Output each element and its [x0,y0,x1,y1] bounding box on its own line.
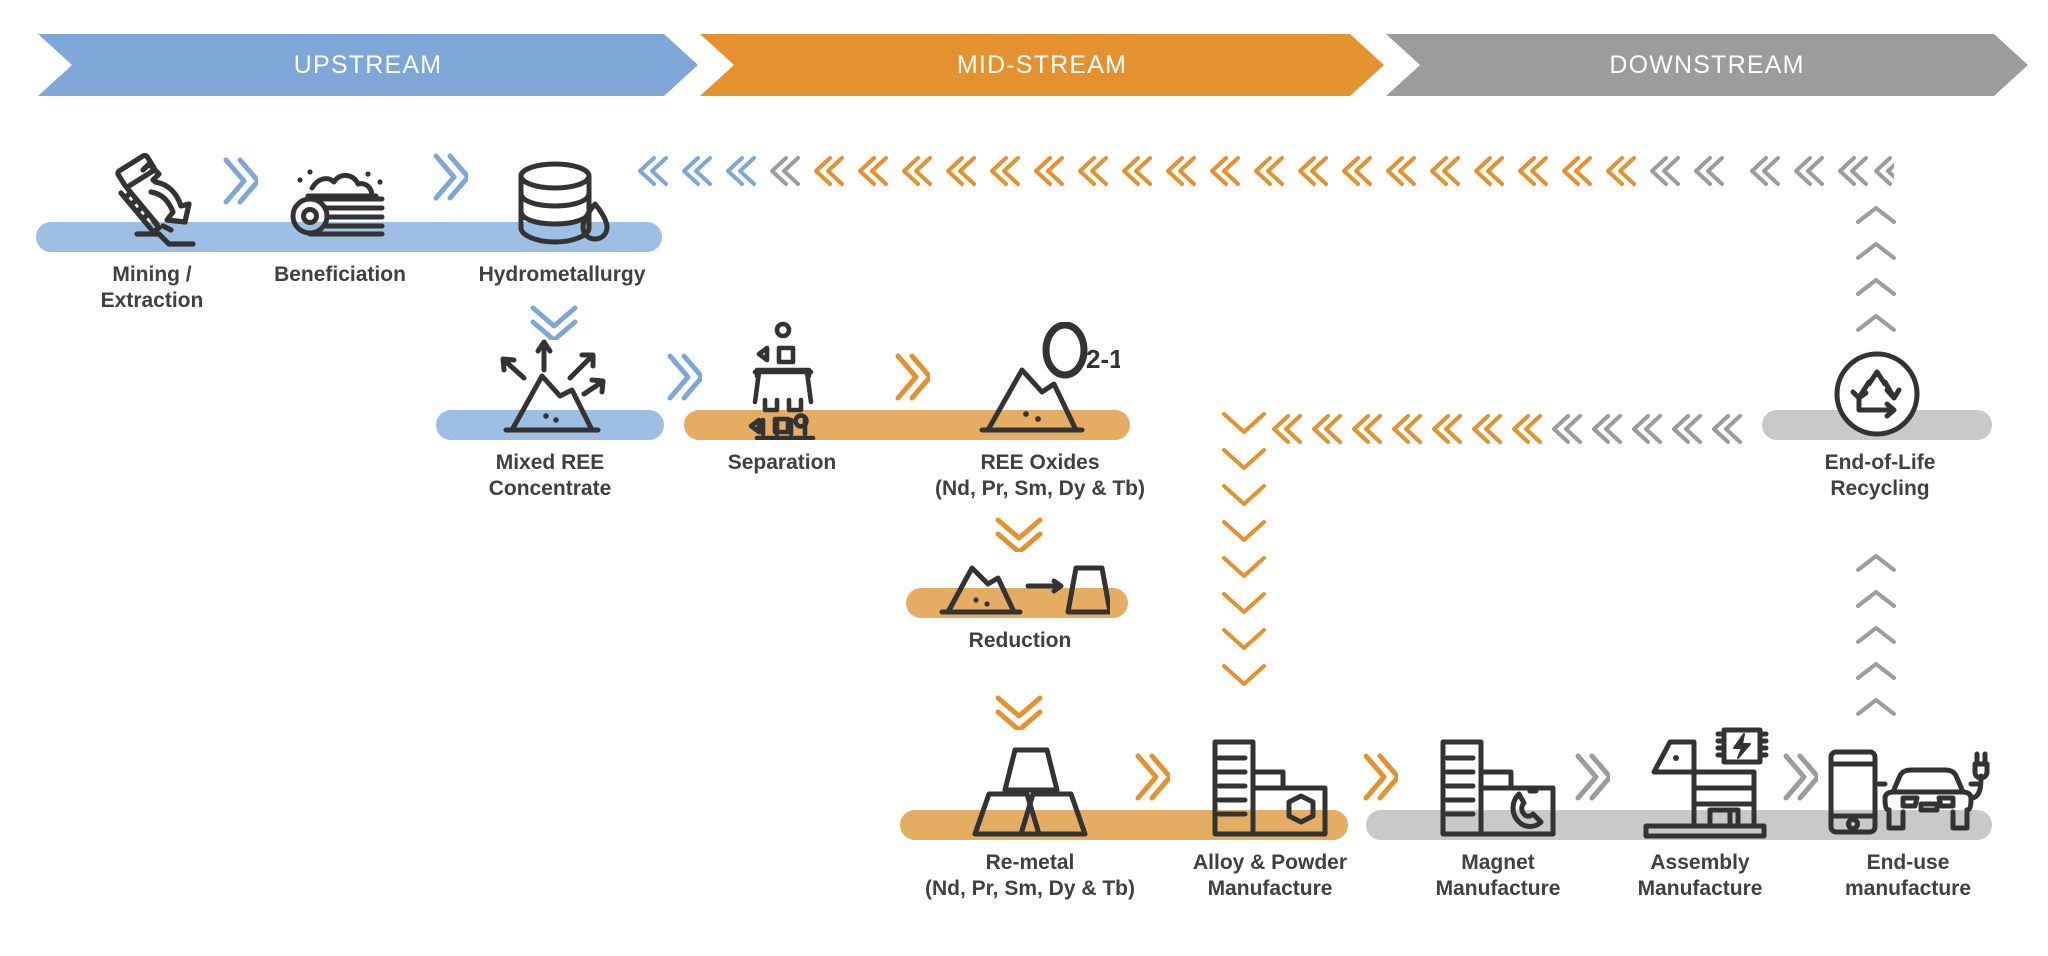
node-end-use-manufacture[interactable] [1818,736,1998,840]
node-eol-recycling-label: End-of-Life Recycling [1790,450,1970,501]
stage-banner-downstream[interactable]: DOWNSTREAM [1386,34,2028,96]
label-line-2: Manufacture [1600,876,1800,902]
chevron-down-icon-reduction-to-remetal [990,690,1048,730]
label-line-1: Re-metal [986,851,1075,874]
node-separation[interactable] [692,320,872,440]
pickaxe-rock-icon [97,148,207,252]
node-mining-extraction[interactable] [62,140,242,252]
chevron-left-trail-icon-top-return [632,150,1894,192]
label-line-2: manufacture [1808,876,2008,902]
ore-pile-oxide-icon: 2-11 [960,322,1120,440]
tank-droplet-icon [507,156,617,252]
label-line-2: (Nd, Pr, Sm, Dy & Tb) [910,876,1150,902]
factory-power-icon [1632,724,1772,840]
label-line-2: Extraction [62,288,242,314]
node-reduction-label: Reduction [930,628,1110,654]
node-beneficiation-label: Beneficiation [240,262,440,288]
label-line-2: (Nd, Pr, Sm, Dy & Tb) [920,476,1160,502]
node-mixed-ree-concentrate-label: Mixed REE Concentrate [460,450,640,501]
ree-oxide-formula-subscript: 2-11 [1086,344,1120,374]
node-reduction[interactable] [930,556,1110,618]
chevron-up-trail-icon-recycling-to-top [1848,200,1904,350]
label-line-2: Recycling [1790,476,1970,502]
chevron-right-icon-alloy-to-magnet [1358,748,1398,806]
stage-banner-midstream[interactable]: MID-STREAM [700,34,1384,96]
chevron-right-icon-separation-to-oxides [890,348,930,406]
chevron-down-icon-oxides-to-reduction [990,512,1048,552]
node-alloy-powder-manufacture-label: Alloy & Powder Manufacture [1170,850,1370,901]
node-alloy-powder-manufacture[interactable] [1180,730,1360,840]
node-re-metal-label: Re-metal (Nd, Pr, Sm, Dy & Tb) [910,850,1150,901]
diagram-canvas: UPSTREAM MID-STREAM DOWNSTREAM [0,0,2048,956]
label-line-1: REE Oxides [980,451,1099,474]
node-mining-extraction-label: Mining / Extraction [62,262,242,313]
node-re-metal[interactable] [940,730,1120,840]
label-line-1: Mixed REE [496,451,605,474]
label-line-1: End-use [1867,851,1950,874]
recycling-circle-icon [1831,348,1923,440]
node-magnet-manufacture[interactable] [1408,730,1588,840]
label-line-1: Beneficiation [274,263,406,286]
phone-ev-car-icon [1823,736,1993,840]
chevron-right-icon-remetal-to-alloy [1130,748,1170,806]
ingot-stack-icon [965,732,1095,840]
label-line-1: Assembly [1650,851,1749,874]
chevron-left-trail-icon-mid-return [1218,408,1778,450]
node-eol-recycling[interactable] [1812,348,1942,440]
chevron-right-icon-magnet-to-assembly [1570,748,1610,806]
node-assembly-manufacture[interactable] [1612,724,1792,840]
chevron-up-trail-icon-enduse-to-recycling [1848,548,1904,738]
chevron-down-trail-icon-mid-to-bottom [1216,408,1272,708]
node-hydrometallurgy[interactable] [472,148,652,252]
label-line-2: Manufacture [1170,876,1370,902]
conveyor-belt-icon [284,156,396,252]
label-line-2: Concentrate [460,476,640,502]
chevron-right-icon-assembly-to-enduse [1778,748,1818,806]
label-line-1: Reduction [969,629,1072,652]
label-line-1: Alloy & Powder [1193,851,1347,874]
stage-banner-upstream[interactable]: UPSTREAM [38,34,698,96]
stage-banner-row: UPSTREAM MID-STREAM DOWNSTREAM [0,34,2048,96]
label-line-1: Magnet [1461,851,1535,874]
label-line-1: Hydrometallurgy [479,263,646,286]
label-line-1: Separation [728,451,837,474]
chevron-right-icon-beneficiation-to-hydromet [428,148,468,206]
node-separation-label: Separation [692,450,872,476]
ore-to-ingot-icon [930,556,1110,618]
ore-pile-arrows-icon [476,330,624,440]
node-beneficiation[interactable] [250,150,430,252]
node-ree-oxides[interactable]: 2-11 [940,322,1140,440]
label-line-1: End-of-Life [1825,451,1936,474]
node-assembly-manufacture-label: Assembly Manufacture [1600,850,1800,901]
label-line-1: Mining / [112,263,191,286]
stage-banner-midstream-label: MID-STREAM [957,51,1127,80]
stage-banner-upstream-label: UPSTREAM [294,51,443,80]
node-ree-oxides-label: REE Oxides (Nd, Pr, Sm, Dy & Tb) [920,450,1160,501]
factory-hex-icon [1205,732,1335,840]
separator-machine-icon [727,320,837,440]
factory-magnet-icon [1433,732,1563,840]
node-mixed-ree-concentrate[interactable] [460,330,640,440]
node-hydrometallurgy-label: Hydrometallurgy [452,262,672,288]
node-end-use-manufacture-label: End-use manufacture [1808,850,2008,901]
node-magnet-manufacture-label: Magnet Manufacture [1398,850,1598,901]
label-line-2: Manufacture [1398,876,1598,902]
stage-banner-downstream-label: DOWNSTREAM [1609,51,1804,80]
